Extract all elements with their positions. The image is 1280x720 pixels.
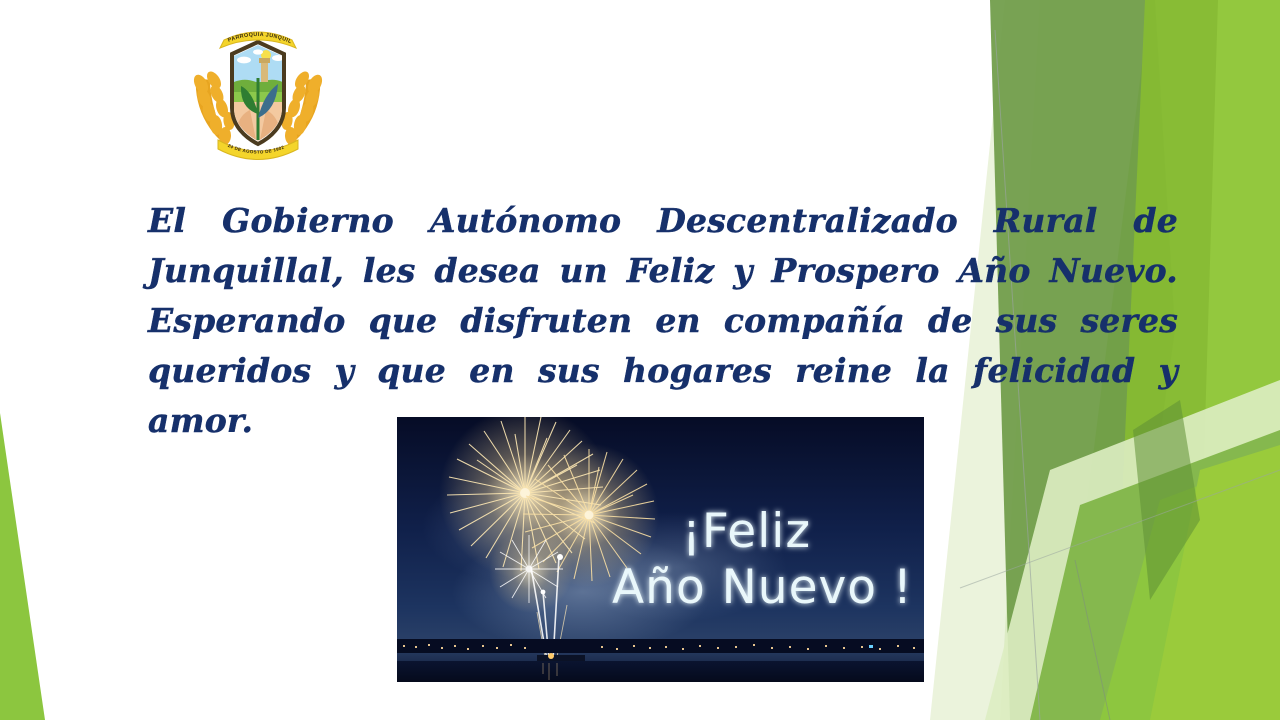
picture-barge — [537, 655, 585, 661]
wheat-left — [191, 69, 236, 148]
logo-top-banner: PARROQUIA JUNQUILLAL — [184, 22, 296, 48]
greeting-line-1: ¡Feliz — [682, 504, 811, 559]
facet-shape-r6 — [1196, 0, 1280, 720]
shield-emblem — [230, 42, 286, 144]
fireworks-image: ¡Feliz Año Nuevo ! — [397, 417, 924, 682]
parish-coat-of-arms-logo: PARROQUIA JUNQUILLAL 24 DE AGOSTO DE 190… — [184, 22, 332, 164]
facet-hairline-3 — [1075, 560, 1110, 720]
shield-cloud-1 — [237, 57, 251, 64]
shield-cloud-3 — [253, 49, 263, 54]
slide-canvas: PARROQUIA JUNQUILLAL 24 DE AGOSTO DE 190… — [0, 0, 1280, 720]
shield-tower-top — [259, 58, 270, 63]
picture-shoreline — [397, 639, 924, 653]
picture-water — [397, 661, 924, 682]
facet-shape-left-wedge — [0, 413, 45, 720]
greeting-line-2: Año Nuevo ! — [612, 560, 913, 615]
wheat-right — [280, 69, 325, 148]
shield-tower — [261, 62, 268, 82]
picture-blue-light — [869, 645, 873, 648]
